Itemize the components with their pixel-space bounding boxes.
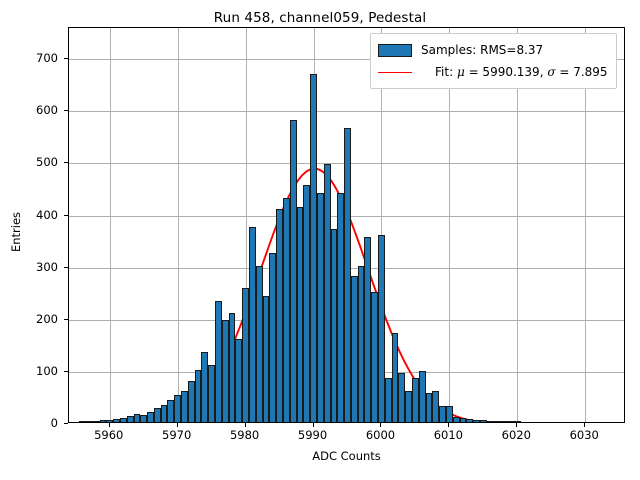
y-tick-label: 0	[0, 416, 58, 430]
y-tick-label: 100	[0, 364, 58, 378]
legend-line-icon	[378, 66, 412, 79]
x-tick-label: 5970	[162, 428, 191, 442]
y-tick-mark	[64, 423, 68, 424]
histogram-bar	[201, 352, 208, 422]
histogram-bar	[453, 417, 460, 422]
x-tick-mark	[380, 423, 381, 427]
histogram-bar	[113, 419, 120, 422]
x-tick-label: 5980	[230, 428, 259, 442]
histogram-bar	[331, 229, 338, 422]
histogram-bar	[235, 339, 242, 422]
x-axis-label: ADC Counts	[68, 449, 625, 463]
x-tick-mark	[516, 423, 517, 427]
histogram-bar	[283, 198, 290, 422]
x-tick-label: 5960	[94, 428, 123, 442]
legend-sigma-symbol: σ	[547, 65, 555, 79]
histogram-bar	[242, 288, 249, 422]
histogram-bar	[188, 381, 195, 422]
histogram-bar	[371, 292, 378, 422]
y-axis-label: Entries	[9, 132, 23, 332]
y-tick-mark	[64, 110, 68, 111]
x-tick-mark	[109, 423, 110, 427]
histogram-bar	[460, 418, 467, 422]
histogram-bar	[229, 313, 236, 422]
legend-item-samples: Samples: RMS=8.37	[378, 39, 608, 61]
histogram-bar	[446, 406, 453, 422]
histogram-bar	[86, 421, 93, 423]
legend-label-fit: Fit: μ = 5990.139, σ = 7.895	[421, 66, 608, 78]
histogram-bar	[378, 235, 385, 422]
histogram-bar	[473, 420, 480, 422]
x-tick-mark	[177, 423, 178, 427]
histogram-bar	[364, 237, 371, 422]
x-tick-label: 6010	[434, 428, 463, 442]
histogram-bar	[487, 421, 494, 423]
histogram-bar	[269, 253, 276, 422]
histogram-bar	[480, 420, 487, 422]
histogram-bar	[140, 415, 147, 422]
histogram-bar	[79, 421, 86, 423]
y-tick-mark	[64, 58, 68, 59]
histogram-bar	[167, 400, 174, 422]
histogram-bar	[494, 421, 501, 423]
y-tick-label: 600	[0, 103, 58, 117]
y-tick-mark	[64, 162, 68, 163]
histogram-bar	[324, 164, 331, 422]
histogram-bar	[507, 421, 514, 423]
histogram-bar	[344, 128, 351, 422]
histogram-bar	[249, 227, 256, 422]
legend-mu-symbol: μ	[457, 65, 465, 79]
legend: Samples: RMS=8.37 Fit: μ = 5990.139, σ =…	[370, 33, 617, 89]
x-tick-mark	[448, 423, 449, 427]
histogram-bar	[412, 378, 419, 422]
histogram-bar	[93, 421, 100, 423]
histogram-bar	[263, 296, 270, 422]
histogram-bar	[134, 414, 141, 422]
x-tick-mark	[313, 423, 314, 427]
histogram-bar	[514, 421, 521, 423]
histogram-bar	[147, 412, 154, 422]
x-tick-mark	[245, 423, 246, 427]
histogram-figure: Run 458, channel059, Pedestal 5960597059…	[0, 0, 640, 480]
histogram-bar	[426, 393, 433, 422]
legend-sigma-value: = 7.895	[556, 65, 608, 79]
page-title: Run 458, channel059, Pedestal	[0, 10, 640, 26]
histogram-bar	[120, 418, 127, 422]
histogram-bar	[500, 421, 507, 423]
x-tick-label: 6030	[570, 428, 599, 442]
y-tick-mark	[64, 215, 68, 216]
histogram-bar	[351, 276, 358, 422]
histogram-bar	[174, 395, 181, 422]
histogram-bar	[100, 420, 107, 422]
histogram-bar	[432, 391, 439, 422]
x-tick-label: 6020	[502, 428, 531, 442]
legend-mu-value: = 5990.139,	[465, 65, 548, 79]
legend-label-samples: Samples: RMS=8.37	[421, 44, 543, 56]
x-tick-label: 5990	[298, 428, 327, 442]
x-tick-label: 6000	[366, 428, 395, 442]
histogram-bar	[208, 365, 215, 422]
histogram-bar	[297, 207, 304, 422]
histogram-bar	[392, 333, 399, 422]
histogram-bar	[358, 266, 365, 422]
histogram-bar	[310, 74, 317, 422]
histogram-bar	[106, 420, 113, 422]
histogram-bar	[222, 320, 229, 422]
y-tick-mark	[64, 371, 68, 372]
histogram-bar	[439, 406, 446, 422]
histogram-bar	[385, 378, 392, 422]
legend-patch-icon	[378, 44, 412, 57]
histogram-bar	[127, 416, 134, 422]
legend-item-fit: Fit: μ = 5990.139, σ = 7.895	[378, 61, 608, 83]
histogram-bar	[398, 373, 405, 423]
histogram-bar	[317, 193, 324, 422]
histogram-bar	[256, 266, 263, 422]
y-tick-mark	[64, 267, 68, 268]
histogram-bar	[405, 391, 412, 422]
histogram-bar	[161, 405, 168, 422]
histogram-bar	[195, 370, 202, 422]
y-tick-mark	[64, 319, 68, 320]
x-tick-mark	[584, 423, 585, 427]
histogram-bar	[290, 120, 297, 422]
histogram-bar	[419, 371, 426, 422]
histogram-bar	[337, 193, 344, 422]
histogram-bar	[276, 209, 283, 422]
legend-fit-prefix: Fit:	[435, 65, 457, 79]
histogram-bar	[303, 185, 310, 422]
y-tick-label: 700	[0, 51, 58, 65]
histogram-bar	[466, 419, 473, 422]
histogram-bar	[154, 408, 161, 422]
histogram-bar	[215, 301, 222, 422]
histogram-bar	[181, 391, 188, 422]
